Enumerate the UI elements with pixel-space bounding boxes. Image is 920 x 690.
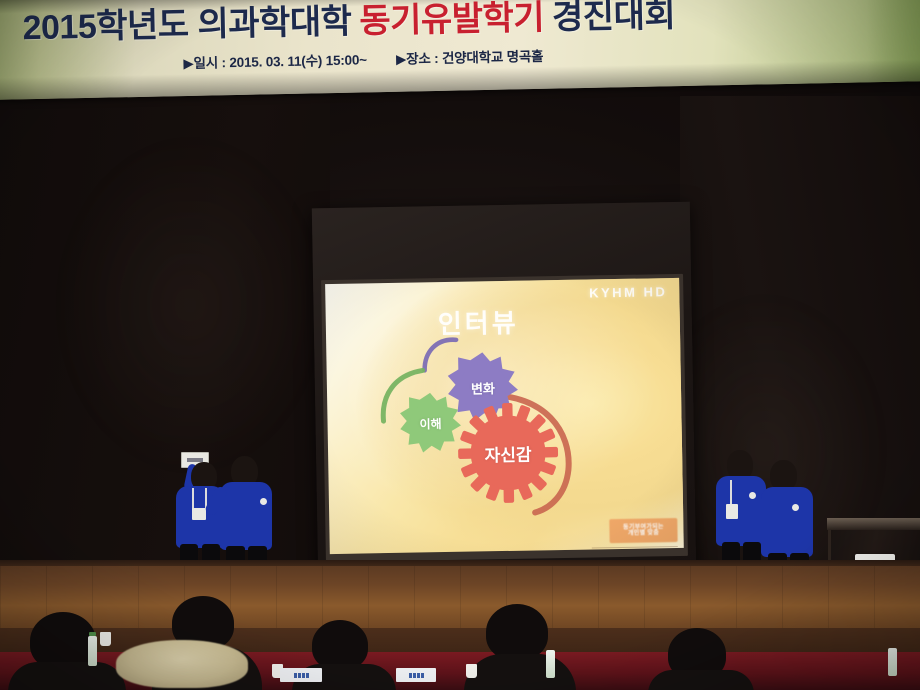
audience-shoulders <box>648 670 754 690</box>
banner-venue: ▶장소 : 건양대학교 명곡홀 <box>396 49 544 67</box>
projector-screen: KYHM HD 인터뷰 변화 <box>312 202 696 579</box>
paper-cup <box>100 632 111 646</box>
water-bottle <box>888 648 897 676</box>
lanyard-strap <box>192 488 194 510</box>
photo-scene: 2015학년도 의과학대학동기유발학기경진대회 ▶일시 : 2015. 03. … <box>0 0 920 690</box>
water-bottle <box>88 636 97 666</box>
presenter-jacket <box>761 487 813 557</box>
table-name-card <box>280 668 322 682</box>
banner-title-part2: 동기유발학기 <box>359 0 544 41</box>
gear-confidence-label: 자신감 <box>484 440 531 466</box>
presentation-slide: KYHM HD 인터뷰 변화 <box>325 278 684 554</box>
banner-title: 2015학년도 의과학대학동기유발학기경진대회 <box>22 0 675 45</box>
slide-footer-line2: 개인별 맞춤 <box>628 530 659 537</box>
jacket-logo <box>260 498 267 505</box>
wall-light-sheen-left <box>60 140 320 470</box>
broadcast-watermark: KYHM HD <box>589 284 667 300</box>
fur-collar <box>116 640 248 688</box>
lanyard-strap <box>730 480 732 506</box>
stage-floor <box>0 566 920 632</box>
id-badge <box>192 508 206 520</box>
slide-footer-rule <box>592 546 678 549</box>
table-name-card <box>396 668 436 682</box>
paper-cup <box>466 664 477 678</box>
gear-confidence: 자신감 <box>455 400 561 506</box>
banner-date: ▶일시 : 2015. 03. 11(수) 15:00~ <box>183 52 367 71</box>
gear-understand-label: 이해 <box>419 415 441 432</box>
presenter-jacket <box>716 476 766 546</box>
audience-head <box>486 604 548 660</box>
jacket-logo <box>749 492 756 499</box>
banner-title-part1: 2015학년도 의과학대학 <box>22 3 352 48</box>
slide-footer-badge: 동기부여가되는 개인별 맞춤 <box>609 518 677 543</box>
gear-change-label: 변화 <box>471 378 495 397</box>
banner-title-part3: 경진대회 <box>552 0 676 37</box>
audience-shoulders <box>8 662 126 690</box>
gear-understand: 이해 <box>397 390 464 457</box>
bottle-cap-icon <box>89 632 96 636</box>
presenter-jacket <box>220 482 272 550</box>
jacket-logo <box>792 504 799 511</box>
audience-head <box>312 620 368 670</box>
id-badge <box>726 504 738 519</box>
podium-top-surface <box>827 518 920 530</box>
water-bottle <box>546 650 555 678</box>
stage-floor-planks <box>0 566 920 632</box>
